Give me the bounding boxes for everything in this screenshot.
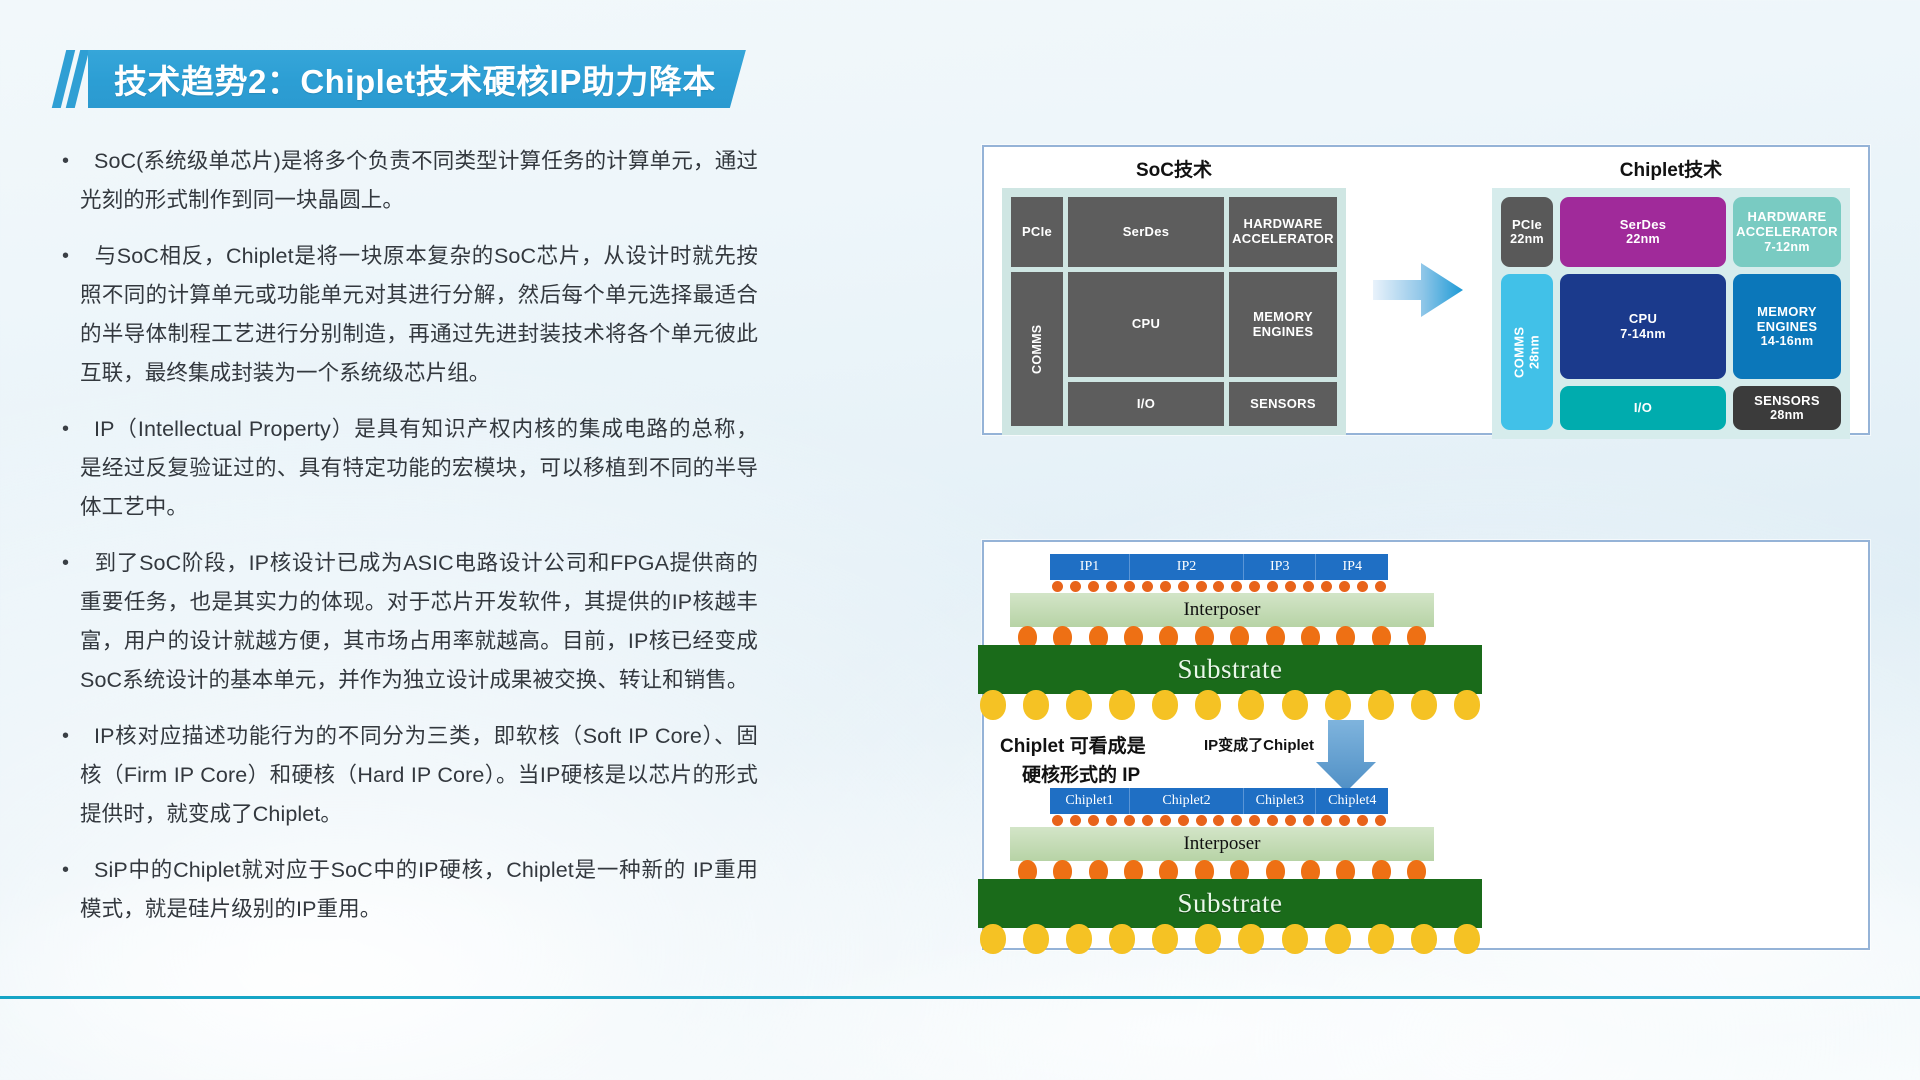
bullet-item: • 到了SoC阶段，IP核设计已成为ASIC电路设计公司和FPGA提供商的重要任… — [58, 544, 758, 700]
solder-ball-row-bottom — [980, 924, 1480, 954]
microbump-row-bottom — [1052, 815, 1386, 826]
bullet-item: • SiP中的Chiplet就对应于SoC中的IP硬核，Chiplet是一种新的… — [58, 851, 758, 929]
bullet-marker: • — [58, 410, 80, 527]
chiplet-note: Chiplet 可看成是 硬核形式的 IP — [1000, 732, 1146, 791]
chiplet-block-mem-name: MEMORY ENGINES — [1757, 304, 1818, 334]
chiplet-diagram: Chiplet技术 PCIe22nm SerDes22nm HARDWARE A… — [1474, 147, 1868, 433]
bullet-text: IP核对应描述功能行为的不同分为三类，即软核（Soft IP Core）、固核（… — [80, 717, 758, 834]
soc-block-io: I/O — [1068, 382, 1224, 426]
chiplet-block-hw-node: 7-12nm — [1733, 240, 1841, 254]
chiplet-die: PCIe22nm SerDes22nm HARDWARE ACCELERATOR… — [1492, 188, 1850, 439]
microbump-row-top — [1052, 581, 1386, 592]
chiplet-block-comms: COMMS28nm — [1501, 274, 1553, 430]
bullet-item: • IP核对应描述功能行为的不同分为三类，即软核（Soft IP Core）、固… — [58, 717, 758, 834]
ip-chip-1: IP1 — [1050, 554, 1130, 580]
chiplet-block-serdes: SerDes22nm — [1560, 197, 1726, 267]
slide-title-block: 技术趋势2：Chiplet技术硬核IP助力降本 — [58, 50, 746, 108]
chiplet-block-sensors-name: SENSORS — [1754, 393, 1820, 408]
chiplet-block-serdes-name: SerDes — [1620, 217, 1667, 232]
substrate-top: Substrate — [978, 645, 1482, 694]
ip-chip-2: IP2 — [1130, 554, 1244, 580]
soc-block-memory-engines: MEMORY ENGINES — [1229, 272, 1337, 377]
bullet-text: IP（Intellectual Property）是具有知识产权内核的集成电路的… — [80, 410, 758, 527]
chiplet-block-pcie-node: 22nm — [1510, 232, 1544, 246]
chiplet-block-pcie: PCIe22nm — [1501, 197, 1553, 267]
chiplet-block-sensors: SENSORS28nm — [1733, 386, 1841, 430]
soc-diagram: SoC技术 PCIe SerDes HARDWARE ACCELERATOR C… — [984, 147, 1364, 433]
chiplet-chip-row: Chiplet1 Chiplet2 Chiplet3 Chiplet4 — [1050, 788, 1388, 814]
soc-chiplet-diagram: SoC技术 PCIe SerDes HARDWARE ACCELERATOR C… — [984, 147, 1868, 433]
bullet-text: SoC(系统级单芯片)是将多个负责不同类型计算任务的计算单元，通过光刻的形式制作… — [80, 142, 758, 220]
substrate-bottom: Substrate — [978, 879, 1482, 928]
chiplet-note-line2: 硬核形式的 IP — [1000, 761, 1146, 790]
interposer-stack-panel: IP1 IP2 IP3 IP4 Interposer Substrate Chi… — [982, 540, 1870, 950]
ip-chip-3: IP3 — [1244, 554, 1317, 580]
bullet-item: • 与SoC相反，Chiplet是将一块原本复杂的SoC芯片，从设计时就先按照不… — [58, 237, 758, 393]
bullet-item: • IP（Intellectual Property）是具有知识产权内核的集成电… — [58, 410, 758, 527]
chiplet-diagram-title: Chiplet技术 — [1474, 147, 1868, 188]
chiplet-block-serdes-node: 22nm — [1620, 232, 1667, 246]
bullet-text-value: 与SoC相反，Chiplet是将一块原本复杂的SoC芯片，从设计时就先按照不同的… — [80, 244, 758, 385]
chiplet-block-cpu: CPU7-14nm — [1560, 274, 1726, 379]
soc-vs-chiplet-panel: SoC技术 PCIe SerDes HARDWARE ACCELERATOR C… — [982, 145, 1870, 435]
bullet-text: SiP中的Chiplet就对应于SoC中的IP硬核，Chiplet是一种新的 I… — [80, 851, 758, 929]
solder-ball-row-top — [980, 690, 1480, 720]
soc-die: PCIe SerDes HARDWARE ACCELERATOR COMMS C… — [1002, 188, 1346, 435]
chiplet-block-cpu-name: CPU — [1629, 311, 1657, 326]
chiplet-note-line1: Chiplet 可看成是 — [1000, 732, 1146, 761]
bullet-text: 到了SoC阶段，IP核设计已成为ASIC电路设计公司和FPGA提供商的重要任务，… — [80, 544, 758, 700]
chiplet-block-cpu-node: 7-14nm — [1620, 327, 1666, 341]
body-text-column: • SoC(系统级单芯片)是将多个负责不同类型计算任务的计算单元，通过光刻的形式… — [58, 142, 758, 946]
transform-label: IP变成了Chiplet — [1204, 734, 1314, 755]
title-bar: 技术趋势2：Chiplet技术硬核IP助力降本 — [88, 50, 746, 108]
stack-diagram: IP1 IP2 IP3 IP4 Interposer Substrate Chi… — [984, 542, 1868, 948]
chiplet-block-io: I/O — [1560, 386, 1726, 430]
bullet-marker: • — [58, 142, 80, 220]
bullet-text-value: IP（Intellectual Property）是具有知识产权内核的集成电路的… — [80, 417, 758, 519]
chiplet-chip-3: Chiplet3 — [1244, 788, 1317, 814]
bullet-marker: • — [58, 544, 80, 700]
page-title: 技术趋势2：Chiplet技术硬核IP助力降本 — [114, 55, 716, 103]
ip-chip-row: IP1 IP2 IP3 IP4 — [1050, 554, 1388, 580]
bullet-item: • SoC(系统级单芯片)是将多个负责不同类型计算任务的计算单元，通过光刻的形式… — [58, 142, 758, 220]
soc-block-sensors: SENSORS — [1229, 382, 1337, 426]
chiplet-block-comms-name: COMMS — [1512, 326, 1527, 377]
bullet-text-value: SiP中的Chiplet就对应于SoC中的IP硬核，Chiplet是一种新的 I… — [80, 858, 758, 921]
chiplet-block-memory-engines: MEMORY ENGINES14-16nm — [1733, 274, 1841, 379]
down-arrow-icon — [1314, 720, 1378, 794]
chiplet-block-hardware-accelerator: HARDWARE ACCELERATOR7-12nm — [1733, 197, 1841, 267]
chiplet-block-sensors-node: 28nm — [1754, 408, 1820, 422]
chiplet-chip-4: Chiplet4 — [1316, 788, 1388, 814]
soc-diagram-title: SoC技术 — [984, 147, 1364, 188]
soc-block-pcie: PCIe — [1011, 197, 1063, 267]
bullet-marker: • — [58, 851, 80, 929]
chiplet-block-pcie-name: PCIe — [1512, 217, 1542, 232]
soc-block-serdes: SerDes — [1068, 197, 1224, 267]
soc-block-hardware-accelerator: HARDWARE ACCELERATOR — [1229, 197, 1337, 267]
footer: 佐思汽研 shujubang.com 产业研究 战略规划 技术咨询 汽车网 1F… — [0, 999, 1920, 1080]
right-arrow-icon — [1373, 259, 1465, 321]
bullet-marker: • — [58, 717, 80, 834]
chiplet-block-io-name: I/O — [1634, 400, 1652, 415]
chiplet-chip-2: Chiplet2 — [1130, 788, 1244, 814]
chiplet-block-comms-node: 28nm — [1527, 326, 1541, 377]
interposer-top: Interposer — [1010, 593, 1434, 627]
soc-block-cpu: CPU — [1068, 272, 1224, 377]
bullet-text: 与SoC相反，Chiplet是将一块原本复杂的SoC芯片，从设计时就先按照不同的… — [80, 237, 758, 393]
title-slash-icon — [58, 50, 88, 108]
ip-chip-4: IP4 — [1316, 554, 1388, 580]
chiplet-block-mem-node: 14-16nm — [1733, 334, 1841, 348]
chiplet-block-hw-name: HARDWARE ACCELERATOR — [1736, 209, 1838, 239]
bullet-text-value: IP核对应描述功能行为的不同分为三类，即软核（Soft IP Core）、固核（… — [80, 724, 758, 826]
transition-arrow-wrap — [1364, 147, 1474, 433]
bullet-marker: • — [58, 237, 80, 393]
interposer-bottom: Interposer — [1010, 827, 1434, 861]
bullet-text-value: SoC(系统级单芯片)是将多个负责不同类型计算任务的计算单元，通过光刻的形式制作… — [80, 149, 758, 212]
soc-block-comms: COMMS — [1011, 272, 1063, 426]
bullet-text-value: 到了SoC阶段，IP核设计已成为ASIC电路设计公司和FPGA提供商的重要任务，… — [80, 551, 758, 692]
chiplet-chip-1: Chiplet1 — [1050, 788, 1130, 814]
